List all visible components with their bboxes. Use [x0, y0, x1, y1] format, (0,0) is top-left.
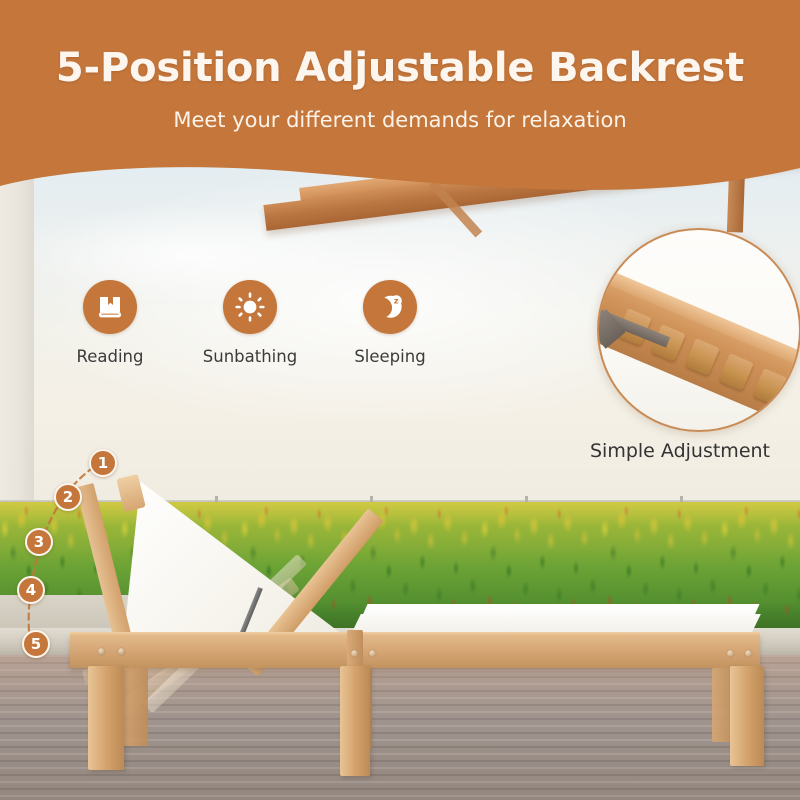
- product-marketing-image: Reading: [0, 0, 800, 800]
- sun-icon: [234, 291, 266, 323]
- frame-bolt: [351, 650, 358, 657]
- feature-label: Sleeping: [354, 347, 425, 366]
- feature-sunbathing[interactable]: Sunbathing: [180, 280, 320, 380]
- frame-bolt: [727, 650, 734, 657]
- position-marker-5[interactable]: 5: [22, 630, 50, 658]
- frame-bolt: [745, 650, 752, 657]
- moon-z-icon: z: [374, 291, 406, 323]
- leg-front-left: [88, 666, 124, 770]
- product-photo: Reading: [0, 0, 800, 800]
- leg-rear-right: [730, 666, 764, 766]
- feature-icon-badge: z: [363, 280, 417, 334]
- feature-label: Sunbathing: [203, 347, 297, 366]
- detail-inset-label: Simple Adjustment: [590, 440, 800, 462]
- leg-inner-front: [120, 668, 148, 746]
- frame-bolt: [369, 650, 376, 657]
- position-marker-2[interactable]: 2: [54, 483, 82, 511]
- feature-sleeping[interactable]: z Sleeping: [320, 280, 460, 380]
- svg-text:z: z: [394, 297, 399, 306]
- position-marker-1[interactable]: 1: [89, 449, 117, 477]
- feature-icon-badge: [83, 280, 137, 334]
- book-icon: [95, 292, 125, 322]
- seat-side-rail: [70, 634, 760, 668]
- feature-label: Reading: [77, 347, 144, 366]
- feature-reading[interactable]: Reading: [40, 280, 180, 380]
- detail-inset-circle[interactable]: [597, 228, 800, 432]
- feature-icon-badge: [223, 280, 277, 334]
- leg-middle: [340, 666, 370, 776]
- seat-rail-highlight: [70, 632, 760, 636]
- position-marker-3[interactable]: 3: [25, 528, 53, 556]
- position-marker-4[interactable]: 4: [17, 576, 45, 604]
- position-path-dashed-curve: [0, 430, 160, 670]
- feature-icon-row: Reading: [40, 280, 460, 380]
